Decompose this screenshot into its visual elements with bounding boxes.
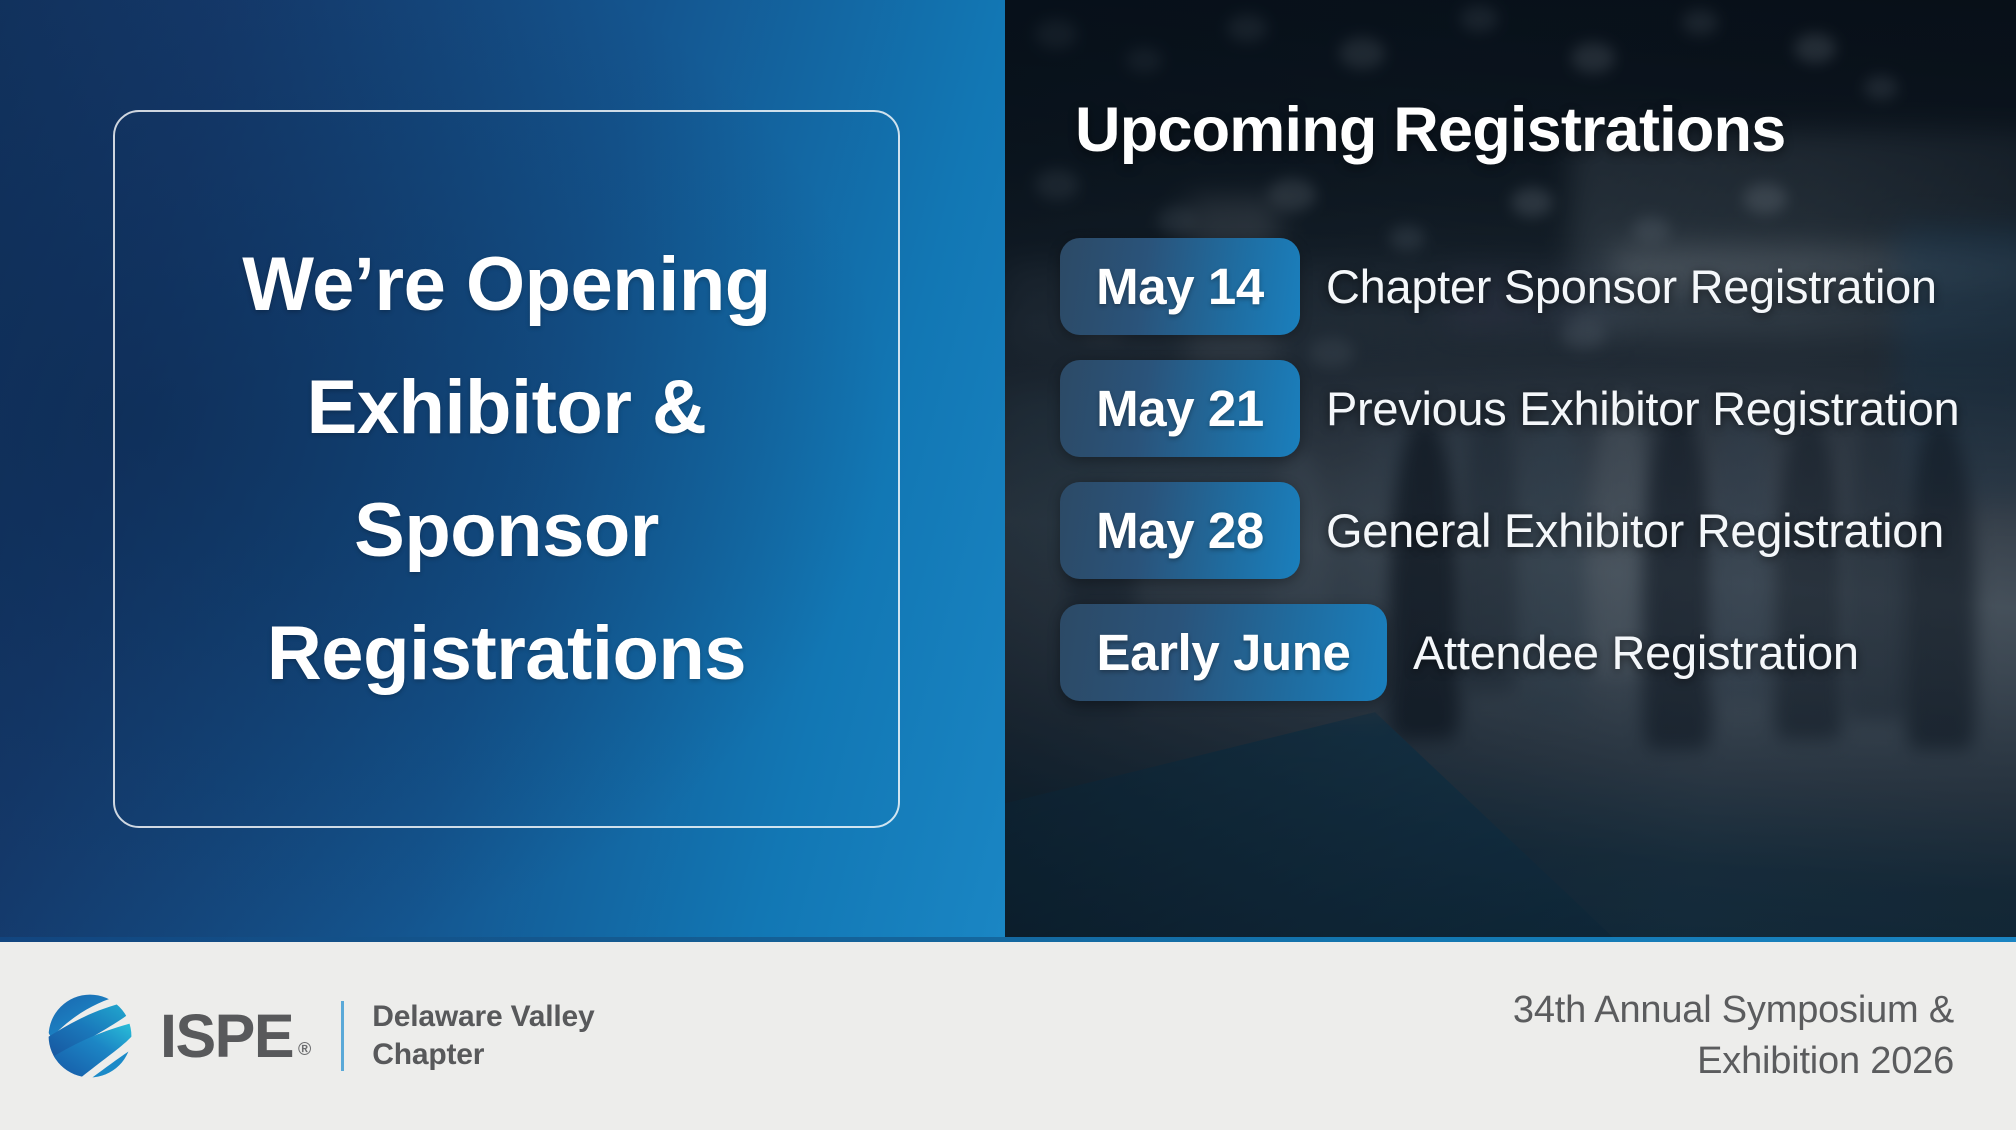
registrations-content: Upcoming Registrations May 14 Chapter Sp… — [1005, 0, 2016, 937]
registration-date: May 14 — [1096, 257, 1264, 316]
registration-date: May 21 — [1096, 379, 1264, 438]
ispe-wordmark: ISPE® — [160, 1006, 311, 1067]
registration-list: May 14 Chapter Sponsor Registration May … — [1005, 238, 2016, 701]
registration-label: Attendee Registration — [1413, 625, 1859, 680]
registration-date-pill: Early June — [1060, 604, 1387, 701]
registration-label: General Exhibitor Registration — [1326, 503, 1944, 558]
chapter-name-line-2: Chapter — [372, 1038, 484, 1071]
event-title-line-1: 34th Annual Symposium & — [1513, 989, 1954, 1031]
event-title-line-2: Exhibition 2026 — [1697, 1040, 1954, 1082]
headline-line-2: Exhibitor & — [307, 346, 707, 469]
registration-date: May 28 — [1096, 501, 1264, 560]
headline-line-3: Sponsor — [354, 469, 659, 592]
registration-label: Chapter Sponsor Registration — [1326, 259, 1937, 314]
chapter-name: Delaware Valley Chapter — [372, 998, 594, 1075]
registration-row: May 14 Chapter Sponsor Registration — [1005, 238, 2016, 335]
registration-row: Early June Attendee Registration — [1005, 604, 2016, 701]
registration-date: Early June — [1097, 623, 1351, 682]
headline-line-4: Registrations — [267, 592, 746, 715]
registration-label: Previous Exhibitor Registration — [1326, 381, 1959, 436]
registration-row: May 21 Previous Exhibitor Registration — [1005, 360, 2016, 457]
headline-panel: We’re Opening Exhibitor & Sponsor Regist… — [0, 0, 1005, 937]
panel-title: Upcoming Registrations — [1075, 94, 2016, 166]
ispe-logo: ISPE® Delaware Valley Chapter — [44, 990, 594, 1082]
chapter-name-line-1: Delaware Valley — [372, 1000, 594, 1033]
registrations-panel: Upcoming Registrations May 14 Chapter Sp… — [1005, 0, 2016, 937]
logo-divider — [341, 1001, 344, 1071]
registration-date-pill: May 28 — [1060, 482, 1300, 579]
ispe-wordmark-text: ISPE — [160, 1002, 293, 1070]
ispe-globe-icon — [44, 990, 136, 1082]
footer: ISPE® Delaware Valley Chapter 34th Annua… — [0, 942, 2016, 1130]
headline-line-1: We’re Opening — [242, 223, 770, 346]
banner-top-area: We’re Opening Exhibitor & Sponsor Regist… — [0, 0, 2016, 937]
registration-date-pill: May 21 — [1060, 360, 1300, 457]
registered-trademark-icon: ® — [298, 1039, 311, 1059]
registration-date-pill: May 14 — [1060, 238, 1300, 335]
promo-banner: We’re Opening Exhibitor & Sponsor Regist… — [0, 0, 2016, 1130]
event-title: 34th Annual Symposium & Exhibition 2026 — [1513, 985, 1954, 1086]
registration-row: May 28 General Exhibitor Registration — [1005, 482, 2016, 579]
headline-box: We’re Opening Exhibitor & Sponsor Regist… — [113, 110, 900, 828]
